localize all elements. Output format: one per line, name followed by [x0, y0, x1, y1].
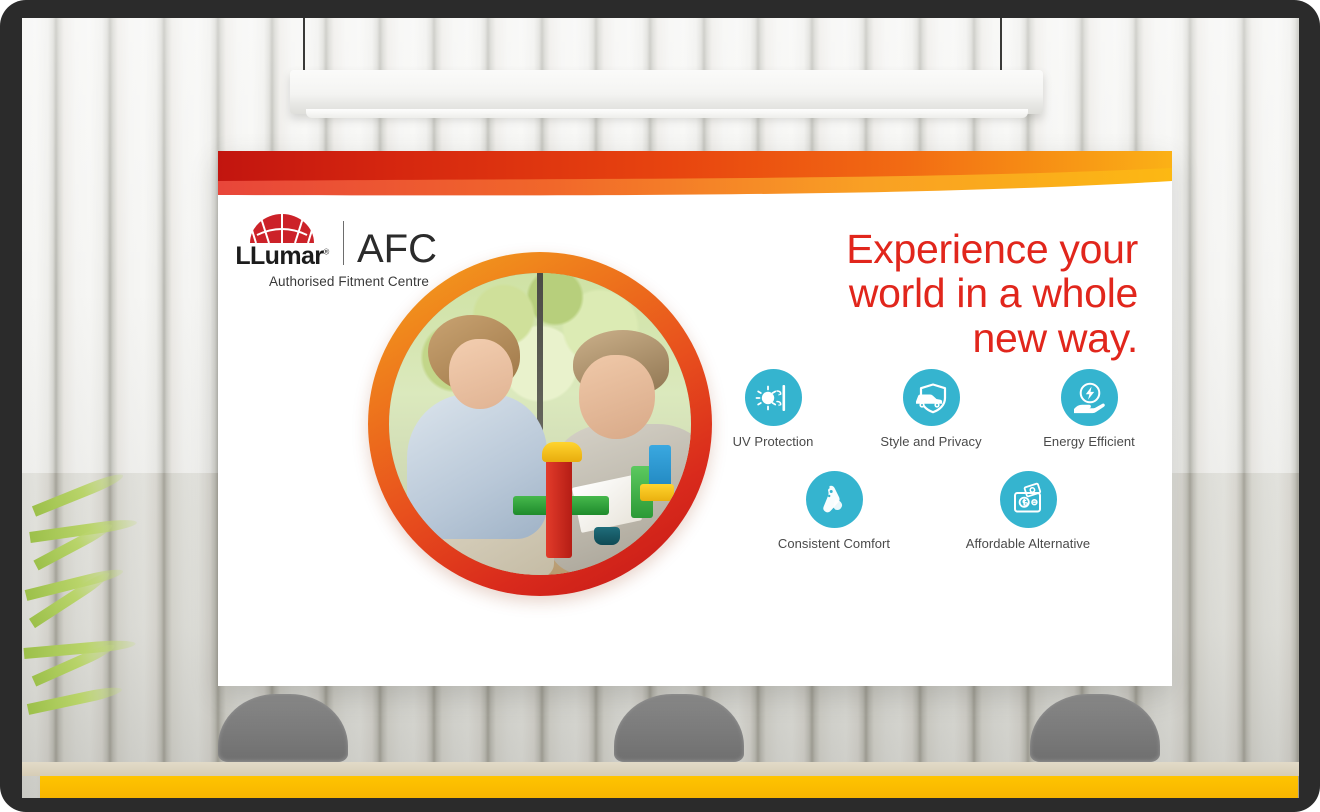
- floor-edge: [22, 762, 1299, 776]
- feature-label: Affordable Alternative: [953, 536, 1103, 551]
- headline-line-1: Experience your: [658, 227, 1138, 271]
- photo-adult-face: [579, 355, 655, 439]
- wallet-dollar-icon: [1000, 471, 1057, 528]
- photo-block-teal: [594, 527, 620, 545]
- feature-list: UV Protection: [716, 369, 1146, 551]
- headline-line-3: new way.: [658, 316, 1138, 360]
- photo-block-yellow-2: [640, 484, 674, 501]
- plant-leaf: [27, 684, 123, 715]
- marketing-banner: LLumar® AFC Authorised Fitment Centre: [218, 151, 1172, 686]
- llumar-sunburst-icon: [249, 213, 315, 243]
- feature-row-1: UV Protection: [716, 369, 1146, 449]
- thermometer-comfort-icon: [806, 471, 863, 528]
- room-interior: LLumar® AFC Authorised Fitment Centre: [22, 18, 1299, 798]
- photo-block-yellow: [542, 442, 582, 462]
- logo-divider: [343, 221, 344, 265]
- feature-row-2: Consistent Comfort: [716, 471, 1146, 551]
- pendant-light-fixture: [290, 70, 1043, 114]
- feature-label: UV Protection: [716, 434, 830, 449]
- afc-wordmark: AFC: [357, 229, 437, 269]
- feature-label: Energy Efficient: [1032, 434, 1146, 449]
- headline-line-2: world in a whole: [658, 271, 1138, 315]
- car-shield-icon: [903, 369, 960, 426]
- feature-affordable-alternative: Affordable Alternative: [953, 471, 1103, 551]
- photo-child-torso: [407, 394, 547, 539]
- floor-accent-strip: [40, 776, 1298, 798]
- hero-photo: [389, 273, 691, 575]
- pendant-cable-right: [1000, 18, 1002, 72]
- scene-frame: LLumar® AFC Authorised Fitment Centre: [0, 0, 1320, 812]
- sun-through-window-icon: [745, 369, 802, 426]
- llumar-brand-mark: LLumar®: [234, 213, 330, 269]
- headline: Experience your world in a whole new way…: [658, 227, 1138, 360]
- feature-label: Style and Privacy: [874, 434, 988, 449]
- llumar-wordmark: LLumar®: [234, 244, 330, 269]
- feature-style-and-privacy: Style and Privacy: [874, 369, 988, 449]
- pendant-cable-left: [303, 18, 305, 72]
- feature-consistent-comfort: Consistent Comfort: [759, 471, 909, 551]
- photo-block-red: [546, 454, 572, 558]
- feature-energy-efficient: Energy Efficient: [1032, 369, 1146, 449]
- banner-header-swoosh: [218, 151, 1172, 203]
- potted-plant: [30, 498, 150, 738]
- pendant-light-diffuser: [306, 109, 1028, 118]
- hand-lightning-bolt-icon: [1061, 369, 1118, 426]
- feature-label: Consistent Comfort: [759, 536, 909, 551]
- feature-uv-protection: UV Protection: [716, 369, 830, 449]
